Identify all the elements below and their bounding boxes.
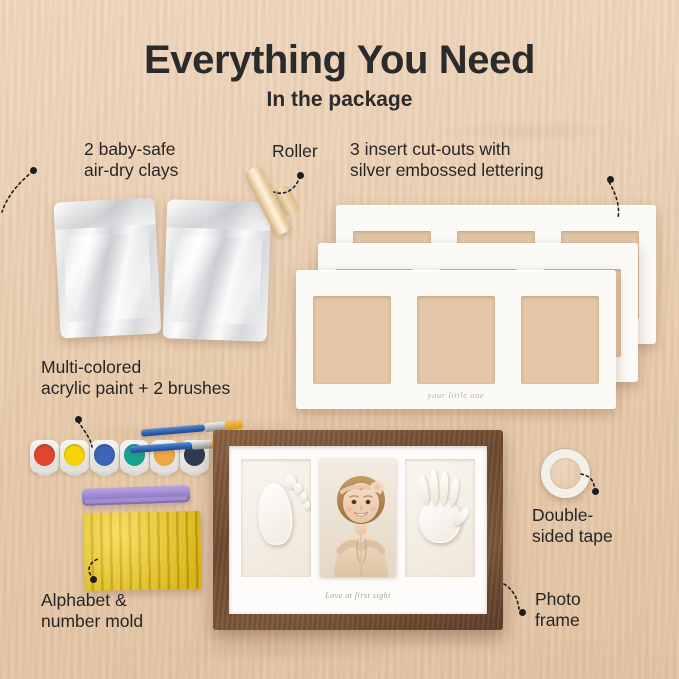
callout-dot-alphabet: [90, 576, 97, 583]
brush-tip: [224, 420, 243, 431]
frame-mat: Love at first sight: [229, 446, 487, 614]
wood-grain-knot: [150, 640, 410, 664]
brush-ferrule: [192, 439, 214, 449]
callout-label-photo: Photo frame: [535, 589, 581, 632]
callout-label-roller: Roller: [272, 141, 318, 162]
callout-dot-photo: [519, 609, 526, 616]
foot-shape: [256, 482, 294, 546]
mat-insert: your little one: [296, 270, 616, 409]
mat-window: [313, 296, 391, 384]
infographic-canvas: Everything You Need In the package 2 bab…: [0, 0, 679, 679]
callout-dot-roller: [297, 172, 304, 179]
callout-dot-paint: [75, 416, 82, 423]
callout-label-alphabet: Alphabet & number mold: [41, 590, 143, 633]
mat-window: [417, 296, 495, 384]
frame-caption: Love at first sight: [229, 591, 487, 600]
clay-packet: [163, 199, 272, 342]
callout-dot-inserts: [607, 176, 614, 183]
paint-pot: [90, 440, 119, 473]
baby-photo: [320, 459, 396, 577]
callout-dot-clays: [30, 167, 37, 174]
baby-photo-illustration: [320, 459, 396, 577]
callout-label-clays: 2 baby-safe air-dry clays: [84, 139, 178, 182]
clay-packet: [54, 197, 162, 338]
photo-frame: Love at first sight: [213, 430, 503, 630]
handprint-impression: [405, 459, 475, 577]
mat-caption: your little one: [296, 390, 616, 400]
alphabet-number-mold: [83, 511, 201, 591]
callout-label-tape: Double- sided tape: [532, 505, 613, 548]
paint-pot: [60, 440, 89, 473]
callout-label-paint: Multi-colored acrylic paint + 2 brushes: [41, 357, 230, 400]
mat-window: [521, 296, 599, 384]
footprint-impression: [241, 459, 311, 577]
double-sided-tape-roll: [541, 449, 590, 498]
page-subtitle: In the package: [0, 88, 679, 112]
page-title: Everything You Need: [0, 38, 679, 83]
callout-label-inserts: 3 insert cut-outs with silver embossed l…: [350, 139, 544, 182]
callout-dot-tape: [592, 488, 599, 495]
mold-holder-bar: [82, 485, 191, 506]
paint-pot: [30, 440, 59, 473]
